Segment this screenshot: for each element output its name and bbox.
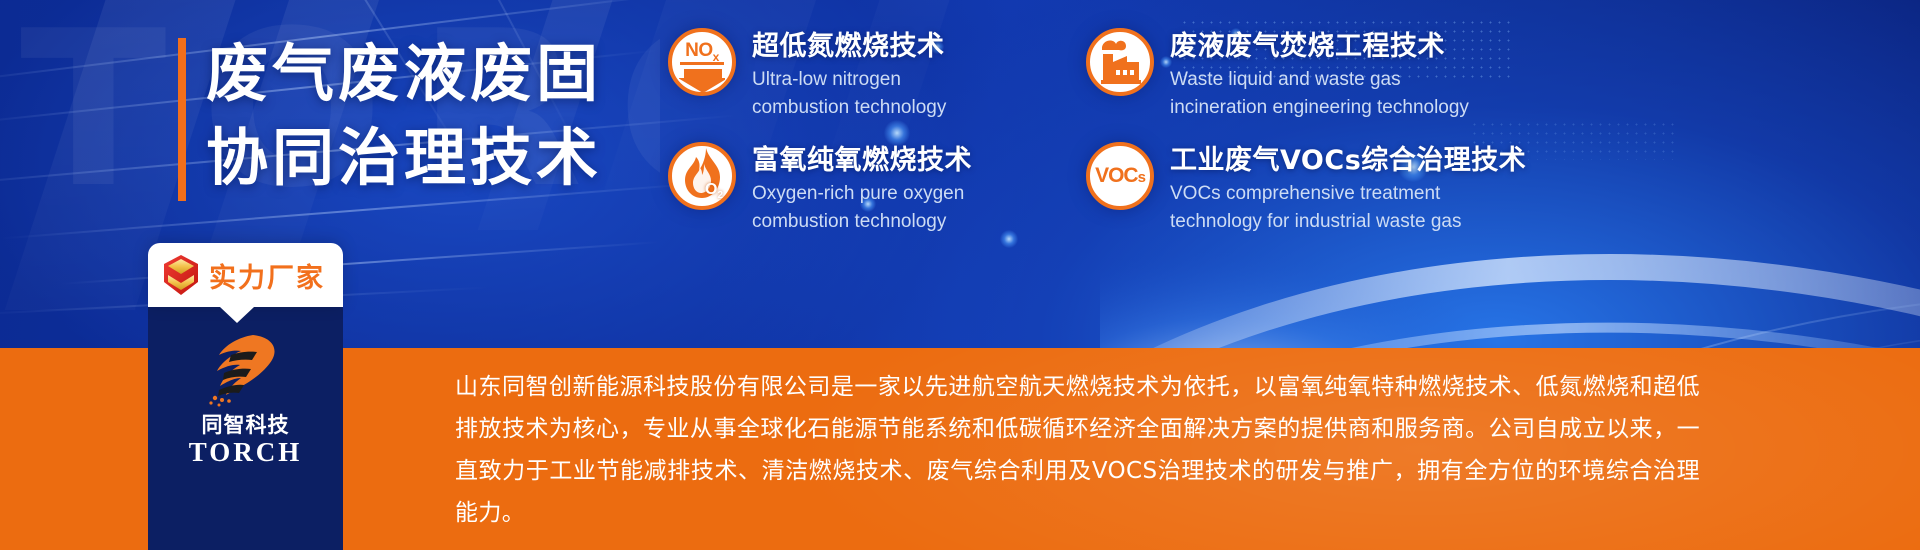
feature-title-cn: 富氧纯氧燃烧技术 (752, 144, 972, 178)
factory-icon (1086, 28, 1154, 96)
feature-title-en-1: Waste liquid and waste gas (1170, 67, 1469, 92)
shield-award-icon (162, 254, 200, 296)
feature-title-cn: 工业废气VOCs综合治理技术 (1170, 144, 1526, 178)
torch-flame-icon (191, 329, 301, 407)
feature-title-cn: 超低氮燃烧技术 (752, 30, 946, 64)
o2-icon-label: O (705, 181, 717, 198)
feature-item-ultra-low-nitrogen[interactable]: NOx 超低氮燃烧技术 Ultra-low nitrogen combustio… (668, 28, 1068, 136)
feature-title-en-1: VOCs comprehensive treatment (1170, 181, 1526, 206)
promo-banner: TORCH (0, 0, 1920, 550)
feature-title-en-2: combustion technology (752, 209, 972, 234)
headline-line-1: 废气废液废固 (206, 32, 602, 116)
feature-title-en-1: Oxygen-rich pure oxygen (752, 181, 972, 206)
strength-manufacturer-badge[interactable]: 实力厂家 (148, 243, 343, 307)
feature-title-en-2: combustion technology (752, 95, 946, 120)
feature-title-en-1: Ultra-low nitrogen (752, 67, 946, 92)
feature-title-en-2: technology for industrial waste gas (1170, 209, 1526, 234)
feature-item-oxygen-rich-combustion[interactable]: O2 富氧纯氧燃烧技术 Oxygen-rich pure oxygen comb… (668, 142, 1068, 250)
vocs-icon: VOCs (1086, 142, 1154, 210)
flame-oxygen-icon: O2 (668, 142, 736, 210)
vocs-icon-label: VOC (1095, 164, 1138, 187)
badge-label: 实力厂家 (209, 256, 325, 295)
factory-glyph (1090, 32, 1150, 92)
feature-list: NOx 超低氮燃烧技术 Ultra-low nitrogen combustio… (668, 28, 1728, 250)
badge-pointer (220, 307, 254, 323)
logo-name-cn: 同智科技 (148, 409, 343, 439)
feature-item-waste-incineration[interactable]: 废液废气焚烧工程技术 Waste liquid and waste gas in… (1086, 28, 1728, 136)
nox-icon-label: NO (685, 40, 713, 61)
logo-name-en: TORCH (148, 437, 343, 468)
headline-line-2: 协同治理技术 (206, 116, 602, 200)
o2-icon-subscript: 2 (717, 190, 723, 201)
company-logo-panel[interactable]: 同智科技 TORCH (148, 285, 343, 550)
company-description: 山东同智创新能源科技股份有限公司是一家以先进航空航天燃烧技术为依托，以富氧纯氧特… (455, 366, 1700, 534)
feature-title-cn: 废液废气焚烧工程技术 (1170, 30, 1469, 64)
vocs-icon-suffix: s (1138, 169, 1145, 186)
nox-down-arrow-icon: NOx (668, 28, 736, 96)
feature-title-en-2: incineration engineering technology (1170, 95, 1469, 120)
headline: 废气废液废固 协同治理技术 (178, 32, 602, 200)
down-arrow-glyph (679, 62, 725, 94)
feature-item-vocs-treatment[interactable]: VOCs 工业废气VOCs综合治理技术 VOCs comprehensive t… (1086, 142, 1728, 250)
